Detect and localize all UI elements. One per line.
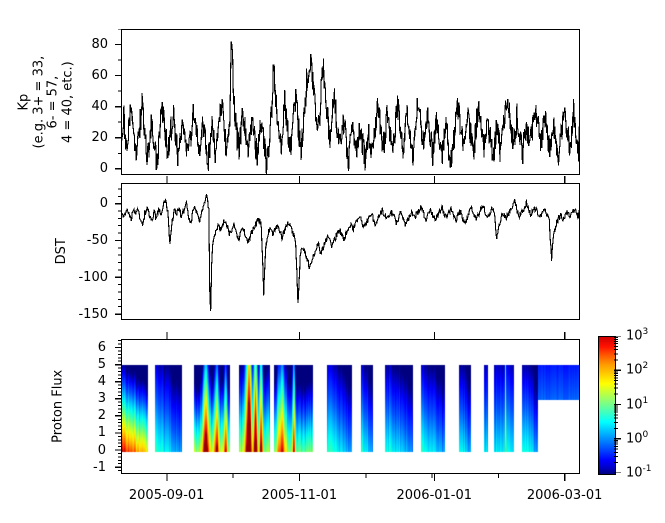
flux-y-axis-label: Proton Flux [51,369,66,442]
kp-y-axis-label: Kp (e.g. 3+ = 33, 6- = 57, 4 = 40, etc.) [17,56,75,149]
colorbar-mantissa-3: 10 [626,363,643,378]
flux-y-tick-marks [108,339,122,474]
kp-yticks-4: 80 [91,37,108,52]
kp-yticks-3: 60 [91,68,108,83]
dst-panel-top-ticks [121,175,581,183]
proton-flux-spectrogram [122,340,580,474]
dst-yticks-1: -50 [87,233,108,248]
x-tick-label-2: 2006-01-01 [396,488,472,503]
flux-yticks-7: 6 [98,340,106,355]
dst-y-axis-label: DST [55,238,70,264]
colorbar-exponent-0: -1 [643,464,652,474]
colorbar-exponent-3: 2 [643,361,649,371]
x-tick-label-3: 2006-03-01 [527,488,603,503]
colorbar-exponent-2: 1 [643,396,649,406]
kp-ylabel-line-1: (e.g. 3+ = 33, [31,56,46,149]
dst-yticks-2: -100 [78,270,108,285]
x-tick-label-1: 2005-11-01 [262,488,338,503]
colorbar-tick-label-4: 103 [626,327,648,343]
flux-yticks-4: 3 [98,391,106,406]
kp-ylabel-line-3: 4 = 40, etc.) [60,56,75,149]
colorbar-mantissa-0: 10 [626,465,643,480]
flux-yticks-1: 0 [98,443,106,458]
kp-yticks-2: 40 [91,99,108,114]
flux-yticks-2: 1 [98,425,106,440]
flux-yticks-5: 4 [98,374,106,389]
kp-ylabel-line-0: Kp [17,56,32,149]
dst-panel [121,183,580,320]
kp-ylabel-line-2: 6- = 57, [46,56,61,149]
kp-y-tick-marks [110,29,122,175]
figure-canvas: Kp (e.g. 3+ = 33, 6- = 57, 4 = 40, etc.)… [0,0,665,523]
colorbar-mantissa-1: 10 [626,431,643,446]
flux-yticks-6: 5 [98,357,106,372]
dst-yticks-3: -150 [78,307,108,322]
colorbar-tick-label-1: 100 [626,430,648,446]
x-axis-tick-marks [121,474,581,484]
kp-panel [121,29,580,175]
dst-y-tick-marks [110,183,122,320]
colorbar-mantissa-2: 10 [626,397,643,412]
dst-trace [122,184,579,319]
colorbar-tick-label-0: 10-1 [626,464,652,480]
kp-trace [122,30,579,174]
x-tick-label-0: 2005-09-01 [129,488,205,503]
colorbar-exponent-1: 0 [643,430,649,440]
kp-yticks-1: 20 [91,130,108,145]
kp-yticks-0: 0 [100,161,108,176]
colorbar-tick-marks [614,336,624,473]
colorbar-mantissa-4: 10 [626,328,643,343]
dst-yticks-0: 0 [100,196,108,211]
flux-panel-top-ticks [121,331,581,339]
colorbar-exponent-4: 3 [643,327,649,337]
colorbar-tick-label-3: 102 [626,361,648,377]
flux-yticks-0: -1 [93,460,106,475]
proton-flux-panel [121,339,580,474]
colorbar-tick-label-2: 101 [626,396,648,412]
flux-yticks-3: 2 [98,408,106,423]
